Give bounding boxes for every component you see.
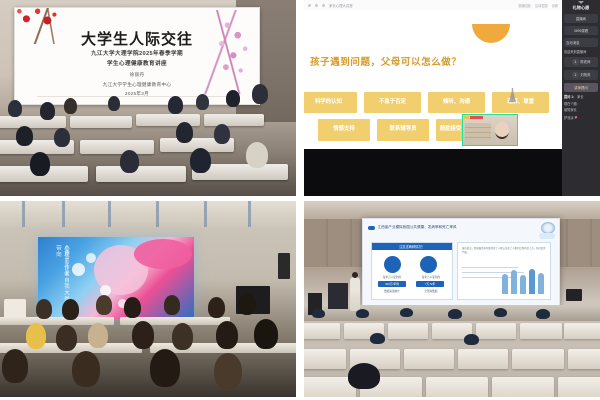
sidebar-section-note: 欢迎来到直播间 bbox=[564, 50, 598, 55]
slide-vertical-text-left: 会体悟的文化名 bbox=[58, 245, 70, 295]
slide-right-card: 报告指出，我国慢性病导致的死亡人数占总死亡人数的比例持续上升，防控形势严峻。 bbox=[457, 242, 551, 300]
slide-header-text: 江西省产业模拟我国公共健康、发病率和死亡率风 bbox=[378, 225, 457, 230]
factory-icon bbox=[420, 256, 437, 273]
auditorium-ceiling bbox=[304, 201, 600, 219]
audience-head bbox=[108, 96, 120, 111]
seat bbox=[558, 377, 600, 397]
seat bbox=[426, 377, 488, 397]
left-card-title: 注意这两种情况！ bbox=[372, 243, 452, 250]
slide-subtitle: 九江大学大理学院2025年春季学期 学生心理健康教育讲座 bbox=[15, 49, 259, 70]
toolbar-item-replay[interactable]: 录播回放 bbox=[518, 3, 531, 8]
person-silhouette-icon bbox=[538, 273, 544, 294]
seated-person-head bbox=[348, 363, 380, 389]
abstract-blob bbox=[134, 239, 192, 269]
stat-chip: 300万/年例 bbox=[378, 281, 406, 287]
seat bbox=[388, 323, 428, 339]
webinar-chat-sidebar: 礼物心愿 直播间 3699观看 互动消息 欢迎来到直播间 1 陈老师 1 刘苑苑… bbox=[562, 0, 600, 196]
audience-head bbox=[8, 100, 22, 117]
secondary-logo-icon bbox=[539, 233, 555, 239]
slide-subtitle-line1: 九江大学大理学院2025年春季学期 bbox=[15, 49, 259, 59]
sidebar-note-1: 现在个题： bbox=[564, 102, 598, 107]
audience-head bbox=[176, 122, 193, 143]
message-text: 刘苑苑 bbox=[580, 73, 590, 77]
orange-wedge-shape bbox=[472, 24, 510, 43]
stat-chip: 7万.5/年 bbox=[416, 281, 444, 287]
webinar-slide-stage: 孩子遇到问题，父母可以怎么做？ 科学的认知 不急于否定 倾听、沟通 理解、尊重 … bbox=[304, 10, 562, 149]
seat bbox=[476, 323, 516, 339]
toolbar-item-settings[interactable]: 设置 bbox=[552, 3, 558, 8]
qa-label: 提问 1： bbox=[564, 95, 576, 99]
audience-head bbox=[132, 321, 154, 349]
tag-item: 不急于否定 bbox=[364, 92, 421, 113]
slide-title: 大学生人际交往 bbox=[15, 28, 259, 49]
sidebar-qa-line: 提问 1： 家长 bbox=[564, 95, 598, 100]
sidebar-note-3: 护流派 ♥ bbox=[564, 115, 598, 123]
tag-item: 倾听、沟通 bbox=[428, 92, 485, 113]
sidebar-title: 礼物心愿 bbox=[564, 5, 598, 11]
tag-item: 科学的认知 bbox=[304, 92, 357, 113]
audience-head bbox=[190, 148, 211, 173]
pa-speaker-right bbox=[566, 289, 582, 301]
audience-head bbox=[150, 349, 180, 387]
person-silhouette-icon bbox=[520, 275, 526, 294]
heart-icon[interactable]: ♥ bbox=[574, 115, 577, 121]
seat bbox=[520, 323, 562, 339]
stat-footnote: 全国总数据 bbox=[414, 289, 448, 293]
desk bbox=[204, 114, 264, 126]
seated-person-head bbox=[536, 309, 550, 319]
seat bbox=[568, 349, 600, 369]
sidebar-message-item[interactable]: 1 刘苑苑 bbox=[564, 70, 598, 80]
ceiling-beam bbox=[248, 201, 251, 227]
slide-subtitle-line2: 学生心理健康教育讲座 bbox=[15, 59, 259, 69]
seat bbox=[564, 323, 600, 339]
speaker-camera-thumbnail[interactable] bbox=[462, 114, 518, 146]
sidebar-highlight-chip[interactable]: 讲师提问 bbox=[564, 83, 598, 92]
seated-person-head bbox=[494, 308, 507, 317]
audience-head bbox=[64, 98, 77, 114]
audience-head bbox=[216, 321, 238, 349]
audience-head bbox=[88, 323, 108, 348]
webinar-tag-grid: 科学的认知 不急于否定 倾听、沟通 理解、尊重 情感支持 联系辅导员 鼓励接受 … bbox=[304, 92, 558, 147]
globe-icon bbox=[322, 4, 325, 7]
seat bbox=[404, 349, 454, 369]
seat bbox=[304, 349, 346, 369]
tobacco-icon bbox=[384, 256, 401, 273]
abstract-dot bbox=[86, 253, 96, 263]
sidebar-chip-room[interactable]: 直播间 bbox=[564, 14, 598, 23]
tag-item: 理解、尊重 bbox=[492, 92, 549, 113]
tag-item: 联系辅导员 bbox=[377, 119, 429, 141]
projector-screen-bottom-right: 江西省产业模拟我国公共健康、发病率和死亡率风 注意这两种情况！ 每年万人受到的 … bbox=[362, 218, 560, 306]
left-icon-caption: 每年万人受到的 bbox=[414, 275, 448, 279]
audience-head bbox=[2, 349, 28, 383]
audience-head bbox=[124, 297, 141, 318]
audience-head bbox=[196, 94, 209, 110]
forward-icon[interactable] bbox=[315, 4, 318, 7]
speaker-face bbox=[495, 122, 509, 139]
audience-head bbox=[40, 102, 55, 120]
audience-head bbox=[214, 353, 242, 389]
audience-head bbox=[208, 297, 225, 318]
message-badge: 1 bbox=[572, 59, 580, 65]
audience-head bbox=[252, 84, 268, 104]
ceiling-beam bbox=[156, 201, 159, 227]
audience-head bbox=[16, 126, 33, 146]
desk bbox=[0, 116, 66, 128]
back-icon[interactable] bbox=[308, 4, 311, 7]
ceiling-beam bbox=[62, 201, 65, 227]
seated-person-head bbox=[448, 309, 462, 319]
desk bbox=[70, 116, 132, 128]
slide-presenter-name: 徐丽丹 bbox=[15, 70, 259, 80]
lecture-hall-audience bbox=[0, 295, 296, 397]
seat bbox=[458, 349, 508, 369]
auditorium-seating bbox=[304, 307, 600, 397]
slide-left-card: 注意这两种情况！ 每年万人受到的 每年万人受到的 300万/年例 7万.5/年 … bbox=[371, 242, 453, 300]
qa-text: 家长 bbox=[577, 95, 583, 99]
tag-item: 情感支持 bbox=[318, 119, 370, 141]
podium bbox=[328, 283, 348, 309]
message-badge: 1 bbox=[572, 72, 580, 78]
background-shelf bbox=[465, 123, 491, 141]
audience-head bbox=[26, 323, 46, 349]
chevron-up-icon[interactable] bbox=[578, 1, 584, 4]
audience-head bbox=[36, 299, 52, 319]
audience-head bbox=[164, 295, 180, 315]
person-silhouette-icon bbox=[529, 269, 535, 294]
video-player-controls[interactable] bbox=[304, 149, 562, 196]
audience-head bbox=[254, 319, 278, 349]
stat-footnote: 数据来源统计 bbox=[375, 289, 409, 293]
webinar-tag-row-1: 科学的认知 不急于否定 倾听、沟通 理解、尊重 bbox=[304, 92, 558, 113]
panel-top-right-webinar: 家长心理大讲堂 录播回放 互动答题 设置 孩子遇到问题，父母可以怎么做？ 科学的… bbox=[304, 0, 600, 196]
seated-person-head bbox=[312, 309, 325, 318]
seated-person-head bbox=[356, 309, 369, 318]
audience-head bbox=[96, 295, 112, 315]
ceiling-beam bbox=[108, 201, 111, 227]
audience-head bbox=[168, 96, 183, 114]
panel-bottom-right-auditorium: 江西省产业模拟我国公共健康、发病率和死亡率风 注意这两种情况！ 每年万人受到的 … bbox=[304, 201, 600, 397]
text-line bbox=[462, 267, 518, 268]
slide-header: 江西省产业模拟我国公共健康、发病率和死亡率风 bbox=[368, 225, 554, 230]
seat bbox=[512, 349, 564, 369]
desk bbox=[80, 140, 154, 154]
photo-collage: 大学生人际交往 九江大学大理学院2025年春季学期 学生心理健康教育讲座 徐丽丹… bbox=[0, 0, 600, 400]
person-silhouette-icon bbox=[511, 270, 517, 294]
audience-head bbox=[238, 293, 256, 315]
seat bbox=[492, 377, 554, 397]
audience-head bbox=[120, 150, 139, 173]
panel-top-left-classroom: 大学生人际交往 九江大学大理学院2025年春季学期 学生心理健康教育讲座 徐丽丹… bbox=[0, 0, 296, 196]
right-card-note: 报告指出，我国慢性病导致的死亡人数占总死亡人数的比例持续上升，防控形势严峻。 bbox=[462, 247, 546, 255]
bullet-icon bbox=[368, 226, 375, 230]
sidebar-note-2: 最知家长 bbox=[564, 108, 598, 113]
classroom-seating bbox=[0, 82, 296, 196]
audience-head bbox=[30, 152, 50, 176]
audience-head bbox=[226, 90, 240, 107]
audience-head bbox=[246, 142, 268, 168]
audience-head bbox=[172, 323, 193, 350]
abstract-dot bbox=[72, 263, 85, 276]
panel-bottom-left-lecture-hall: 心理工作者自我大然带向 会体悟的文化名 bbox=[0, 201, 296, 397]
audience-head bbox=[62, 299, 79, 320]
sidebar-section-interactive[interactable]: 互动消息 bbox=[564, 38, 598, 47]
seat bbox=[304, 323, 340, 339]
sidebar-message-item[interactable]: 1 陈老师 bbox=[564, 57, 598, 67]
audience-head bbox=[56, 325, 77, 351]
seated-person-head bbox=[370, 333, 385, 344]
camera-label-group bbox=[464, 116, 483, 119]
webinar-slide-title: 孩子遇到问题，父母可以怎么做？ bbox=[310, 54, 462, 68]
note-3-text: 护流派 bbox=[564, 116, 574, 120]
audience-head bbox=[72, 351, 100, 387]
audience-head bbox=[54, 128, 70, 147]
left-icon-caption: 每年万人受到的 bbox=[375, 275, 409, 279]
seated-person-head bbox=[464, 334, 479, 345]
pa-speaker bbox=[278, 253, 290, 279]
ceiling-beam bbox=[22, 201, 25, 227]
camera-badge-icon bbox=[464, 116, 469, 119]
person-silhouette-icon bbox=[502, 274, 508, 294]
ceiling-beam bbox=[204, 201, 207, 227]
toolbar-item-quiz[interactable]: 互动答题 bbox=[535, 3, 548, 8]
camera-name-badge bbox=[470, 116, 483, 119]
message-text: 陈老师 bbox=[580, 60, 590, 64]
desk bbox=[96, 166, 186, 182]
sidebar-chip-viewers: 3699观看 bbox=[564, 26, 598, 35]
audience-head bbox=[214, 124, 230, 144]
webinar-tag-row-2: 情感支持 联系辅导员 鼓励接受 心理咨询 bbox=[304, 119, 558, 141]
hall-ceiling bbox=[0, 201, 296, 227]
address-bar-text[interactable]: 家长心理大讲堂 bbox=[329, 3, 353, 8]
seated-person-head bbox=[400, 308, 413, 317]
